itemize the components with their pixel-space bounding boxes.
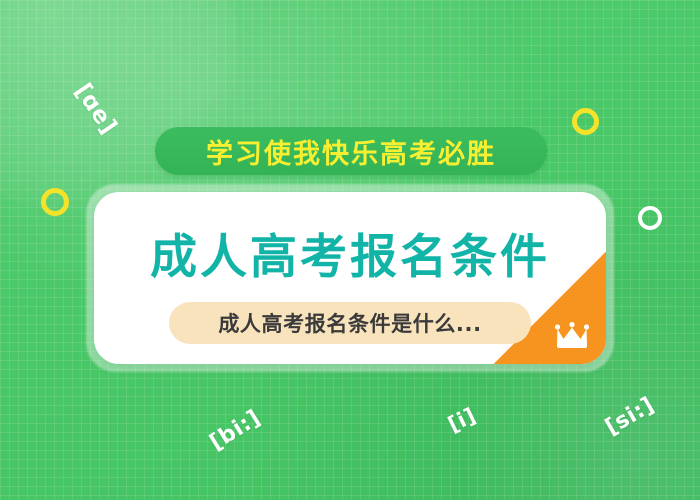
- main-card: 成人高考报名条件 成人高考报名条件是什么...: [94, 192, 606, 364]
- top-banner: 学习使我快乐高考必胜: [155, 127, 547, 175]
- decorative-ring-yellow-left: [41, 188, 69, 216]
- poster-canvas: [ɑe] [bi:] [i] [si:] 学习使我快乐高考必胜 成人高考报名条件…: [0, 0, 700, 500]
- subtitle-pill: 成人高考报名条件是什么...: [169, 302, 531, 344]
- crown-icon: [554, 322, 590, 350]
- page-title: 成人高考报名条件: [94, 218, 606, 287]
- main-card-wrapper: 成人高考报名条件 成人高考报名条件是什么...: [86, 184, 614, 372]
- decorative-ring-white-right: [638, 206, 662, 230]
- decorative-ring-yellow-top: [572, 108, 599, 135]
- top-banner-text: 学习使我快乐高考必胜: [206, 132, 496, 171]
- subtitle-text: 成人高考报名条件是什么...: [218, 308, 481, 338]
